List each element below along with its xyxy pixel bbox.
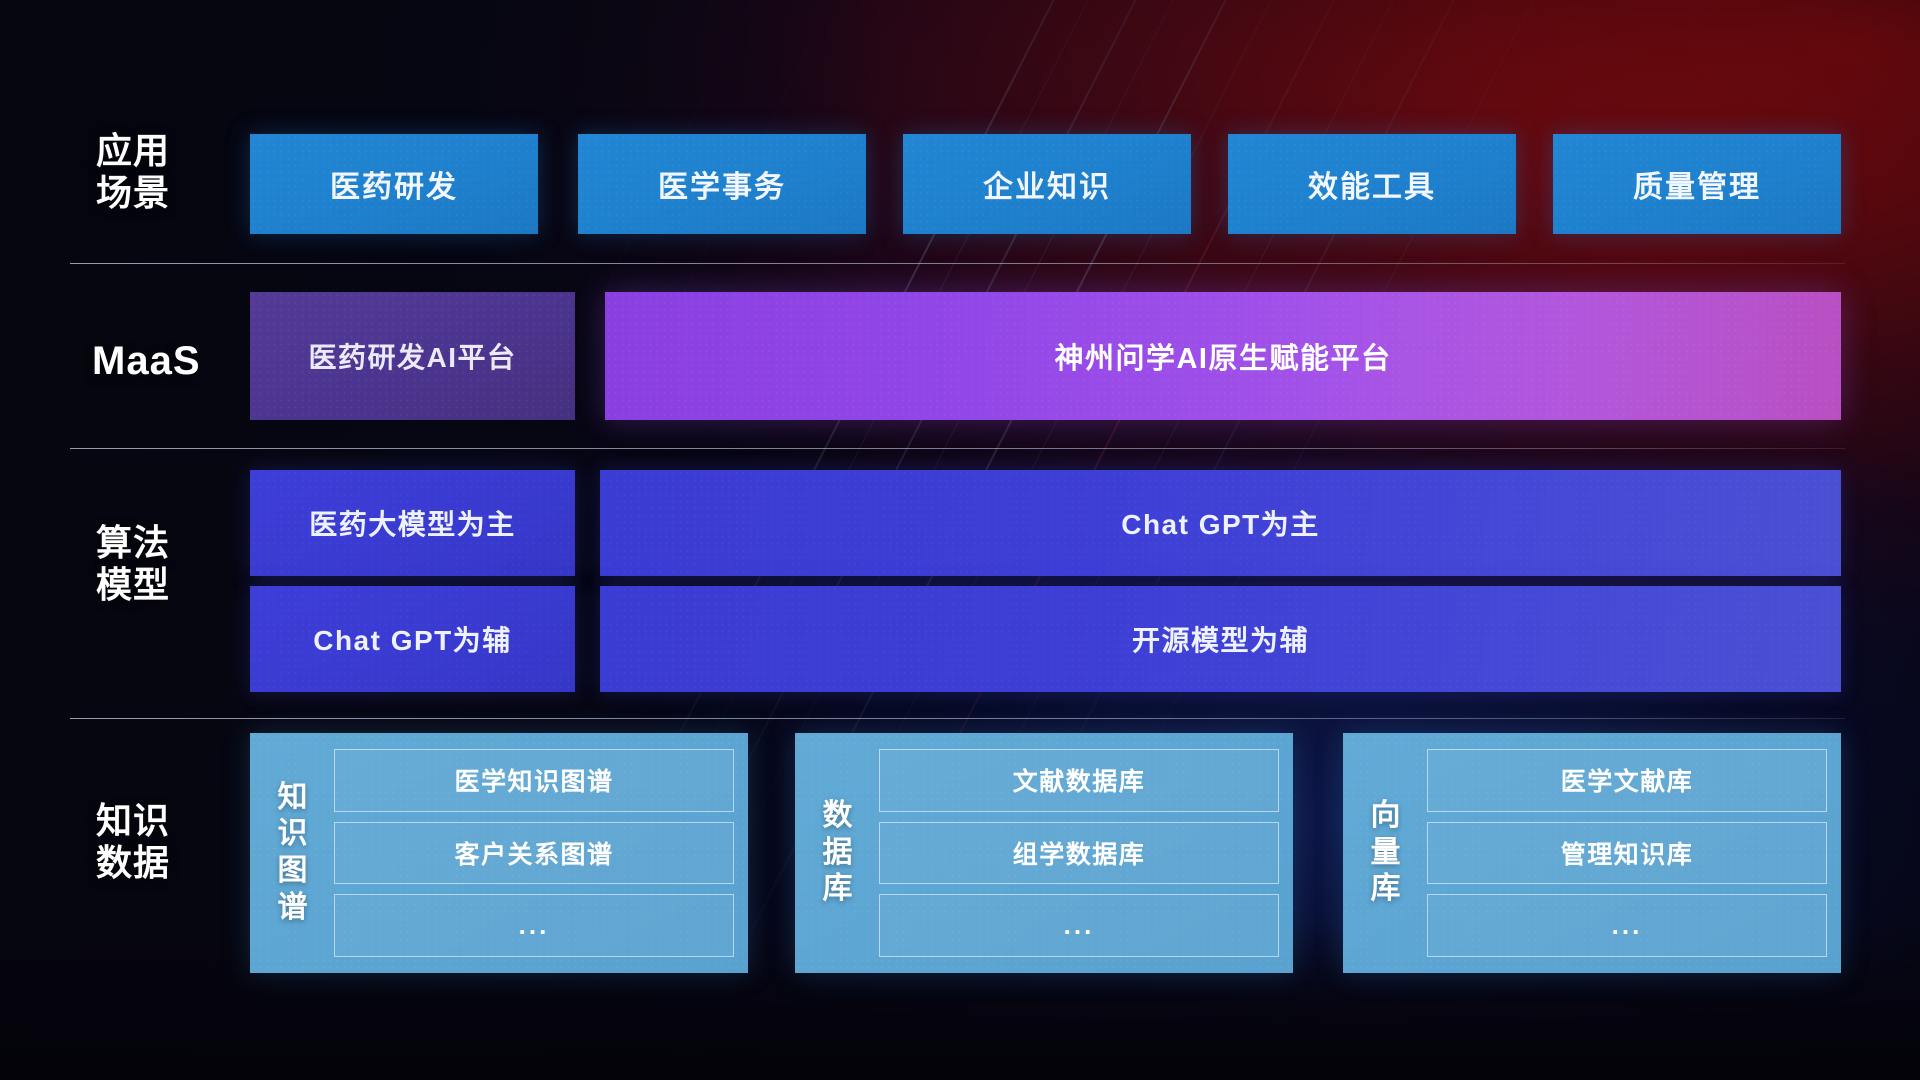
- maas-right-label: 神州问学AI原生赋能平台: [1054, 335, 1391, 377]
- divider-1: [70, 263, 1845, 264]
- knowledge-item[interactable]: 组学数据库: [879, 822, 1279, 885]
- knowledge-panel-vector[interactable]: 向量库 医学文献库 管理知识库 ...: [1343, 733, 1841, 973]
- knowledge-panel-database[interactable]: 数据库 文献数据库 组学数据库 ...: [795, 733, 1293, 973]
- knowledge-panel-title-char: 知: [278, 780, 309, 817]
- knowledge-item[interactable]: 管理知识库: [1427, 822, 1827, 885]
- row-label-application-scenarios: 应用 场景: [96, 130, 266, 215]
- algo-label: 医药大模型为主: [309, 503, 516, 543]
- knowledge-panel-items: 医学文献库 管理知识库 ...: [1427, 749, 1827, 957]
- knowledge-panel-title-char: 图: [278, 853, 309, 890]
- knowledge-item[interactable]: 客户关系图谱: [334, 822, 734, 885]
- app-scenario-box-1[interactable]: 医药研发: [250, 134, 538, 234]
- divider-3: [70, 718, 1845, 719]
- knowledge-item[interactable]: 文献数据库: [879, 749, 1279, 812]
- knowledge-item-more[interactable]: ...: [879, 894, 1279, 957]
- knowledge-item-more[interactable]: ...: [1427, 894, 1827, 957]
- knowledge-item-more[interactable]: ...: [334, 894, 734, 957]
- app-scenario-label: 医学事务: [658, 162, 786, 206]
- app-scenario-box-4[interactable]: 效能工具: [1228, 134, 1516, 234]
- maas-platform-box-right[interactable]: 神州问学AI原生赋能平台: [605, 292, 1841, 420]
- knowledge-panel-title-char: 量: [1371, 835, 1402, 872]
- algo-box-left-primary[interactable]: 医药大模型为主: [250, 470, 575, 576]
- app-scenario-label: 企业知识: [983, 162, 1111, 206]
- algo-box-right-primary[interactable]: Chat GPT为主: [600, 470, 1841, 576]
- app-scenario-label: 效能工具: [1308, 162, 1436, 206]
- row-label-algorithm-models: 算法 模型: [96, 522, 266, 607]
- knowledge-panel-items: 医学知识图谱 客户关系图谱 ...: [334, 749, 734, 957]
- knowledge-panel-title-char: 库: [1371, 871, 1402, 908]
- knowledge-panel-title-char: 识: [278, 816, 309, 853]
- algo-label: Chat GPT为主: [1121, 503, 1320, 543]
- knowledge-item[interactable]: 医学知识图谱: [334, 749, 734, 812]
- algo-label: Chat GPT为辅: [313, 619, 512, 659]
- knowledge-panel-title-char: 据: [823, 835, 854, 872]
- app-scenario-label: 质量管理: [1633, 162, 1761, 206]
- maas-left-label: 医药研发AI平台: [308, 336, 516, 376]
- slide-canvas: 应用 场景 医药研发 医学事务 企业知识 效能工具 质量管理 MaaS 医药研发…: [0, 0, 1920, 1080]
- knowledge-item[interactable]: 医学文献库: [1427, 749, 1827, 812]
- knowledge-panel-items: 文献数据库 组学数据库 ...: [879, 749, 1279, 957]
- divider-2: [70, 448, 1845, 449]
- algo-box-left-secondary[interactable]: Chat GPT为辅: [250, 586, 575, 692]
- knowledge-panel-title: 知识图谱: [264, 749, 322, 957]
- knowledge-panel-title: 数据库: [809, 749, 867, 957]
- app-scenario-box-5[interactable]: 质量管理: [1553, 134, 1841, 234]
- knowledge-panel-title: 向量库: [1357, 749, 1415, 957]
- algo-box-right-secondary[interactable]: 开源模型为辅: [600, 586, 1841, 692]
- knowledge-panel-title-char: 谱: [278, 890, 309, 927]
- app-scenario-box-3[interactable]: 企业知识: [903, 134, 1191, 234]
- knowledge-panel-graph[interactable]: 知识图谱 医学知识图谱 客户关系图谱 ...: [250, 733, 748, 973]
- knowledge-panel-title-char: 向: [1371, 798, 1402, 835]
- app-scenario-label: 医药研发: [330, 162, 458, 206]
- row-label-knowledge-data: 知识 数据: [96, 800, 276, 885]
- algo-label: 开源模型为辅: [1132, 619, 1309, 659]
- knowledge-panel-title-char: 库: [823, 871, 854, 908]
- app-scenario-box-2[interactable]: 医学事务: [578, 134, 866, 234]
- knowledge-panel-title-char: 数: [823, 798, 854, 835]
- maas-platform-box-left[interactable]: 医药研发AI平台: [250, 292, 575, 420]
